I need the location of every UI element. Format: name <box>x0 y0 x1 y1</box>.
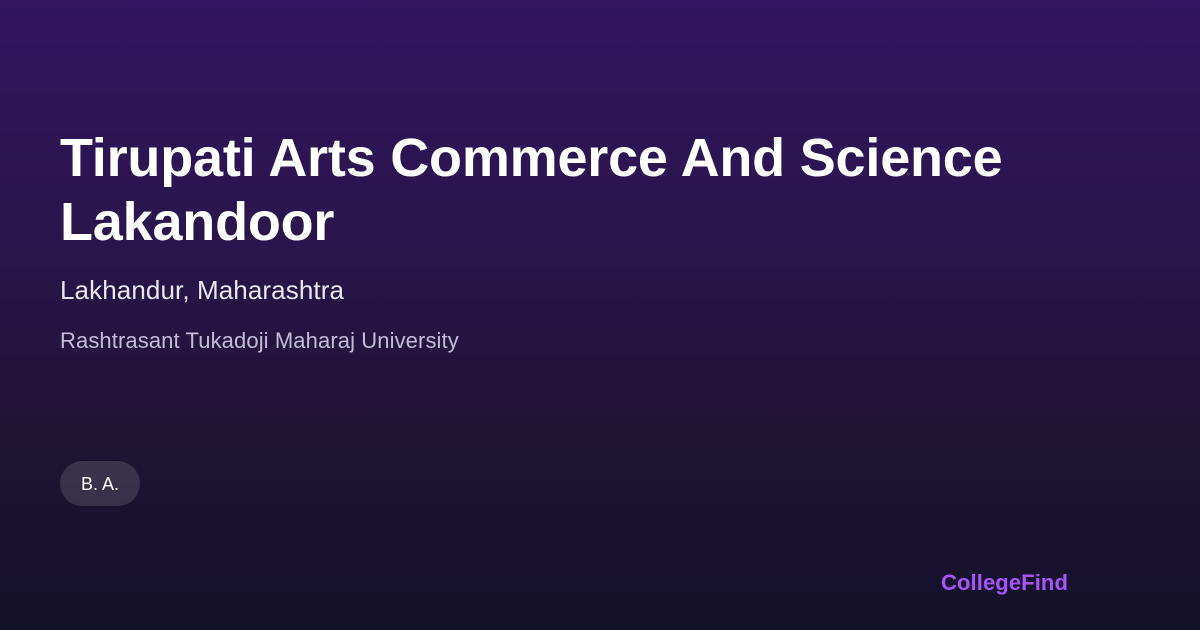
college-location: Lakhandur, Maharashtra <box>60 273 344 307</box>
brand-logo: CollegeFind <box>941 569 1068 597</box>
college-university: Rashtrasant Tukadoji Maharaj University <box>60 326 459 356</box>
card-content: Tirupati Arts Commerce And Science Lakan… <box>60 0 1045 630</box>
page-title: Tirupati Arts Commerce And Science Lakan… <box>60 126 1045 254</box>
degree-badge-ba: B. A. <box>60 461 140 506</box>
degree-badge-list: B. A. <box>60 461 140 506</box>
college-social-card: Tirupati Arts Commerce And Science Lakan… <box>0 0 1200 630</box>
